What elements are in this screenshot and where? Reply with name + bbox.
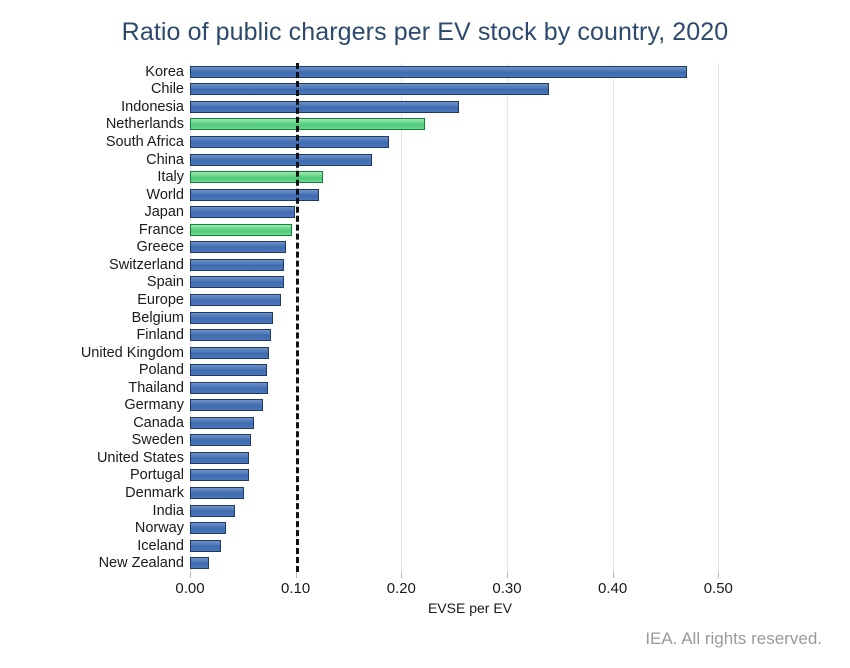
copyright-note: IEA. All rights reserved.	[645, 629, 822, 649]
bar	[190, 83, 549, 95]
bar	[190, 522, 226, 534]
bar-row	[190, 312, 750, 324]
y-axis-label-poland: Poland	[4, 363, 184, 377]
bar-row	[190, 417, 750, 429]
bar	[190, 312, 273, 324]
bar-row	[190, 83, 750, 95]
bar-row	[190, 241, 750, 253]
y-axis-label-thailand: Thailand	[4, 381, 184, 395]
x-axis-label: EVSE per EV	[190, 600, 750, 616]
bar-row	[190, 382, 750, 394]
bar	[190, 241, 286, 253]
bar-row	[190, 154, 750, 166]
chart-title: Ratio of public chargers per EV stock by…	[0, 18, 850, 47]
bar-row	[190, 118, 750, 130]
bar-series	[190, 63, 750, 572]
bar	[190, 417, 254, 429]
bar-row	[190, 557, 750, 569]
bar	[190, 399, 263, 411]
bar	[190, 118, 425, 130]
bar-row	[190, 101, 750, 113]
bar	[190, 540, 221, 552]
bar-row	[190, 189, 750, 201]
reference-line	[296, 63, 299, 572]
x-tick-mark	[401, 572, 402, 578]
y-axis-label-world: World	[4, 188, 184, 202]
y-axis-label-greece: Greece	[4, 240, 184, 254]
x-tick-label: 0.30	[467, 580, 547, 597]
bar-row	[190, 66, 750, 78]
y-axis-label-portugal: Portugal	[4, 468, 184, 482]
bar	[190, 557, 209, 569]
y-axis-label-canada: Canada	[4, 416, 184, 430]
bar	[190, 259, 284, 271]
bar	[190, 382, 268, 394]
y-axis-category-labels: KoreaChileIndonesiaNetherlandsSouth Afri…	[0, 63, 184, 572]
x-tick-label: 0.10	[256, 580, 336, 597]
y-axis-label-india: India	[4, 504, 184, 518]
bar	[190, 505, 235, 517]
y-axis-label-netherlands: Netherlands	[4, 117, 184, 131]
bar-row	[190, 259, 750, 271]
y-axis-label-south-africa: South Africa	[4, 135, 184, 149]
bar-row	[190, 505, 750, 517]
bar	[190, 154, 372, 166]
y-axis-label-sweden: Sweden	[4, 433, 184, 447]
y-axis-label-chile: Chile	[4, 82, 184, 96]
x-tick-mark	[718, 572, 719, 578]
bar	[190, 347, 269, 359]
x-tick-mark	[507, 572, 508, 578]
y-axis-label-spain: Spain	[4, 275, 184, 289]
y-axis-label-germany: Germany	[4, 398, 184, 412]
bar	[190, 487, 244, 499]
y-axis-label-france: France	[4, 223, 184, 237]
bar	[190, 206, 295, 218]
y-axis-label-belgium: Belgium	[4, 311, 184, 325]
y-axis-label-italy: Italy	[4, 170, 184, 184]
y-axis-label-new-zealand: New Zealand	[4, 556, 184, 570]
x-tick-label: 0.00	[150, 580, 230, 597]
x-tick-mark	[296, 572, 297, 578]
bar-row	[190, 276, 750, 288]
y-axis-label-united-kingdom: United Kingdom	[4, 346, 184, 360]
y-axis-label-korea: Korea	[4, 65, 184, 79]
y-axis-label-finland: Finland	[4, 328, 184, 342]
y-axis-label-united-states: United States	[4, 451, 184, 465]
bar	[190, 329, 271, 341]
bar-row	[190, 540, 750, 552]
bar	[190, 171, 323, 183]
bar	[190, 452, 249, 464]
y-axis-label-iceland: Iceland	[4, 539, 184, 553]
bar-row	[190, 469, 750, 481]
bar-row	[190, 329, 750, 341]
bar-row	[190, 522, 750, 534]
bar-row	[190, 171, 750, 183]
bar	[190, 136, 389, 148]
bar	[190, 469, 249, 481]
x-tick-label: 0.40	[573, 580, 653, 597]
x-tick-label: 0.50	[678, 580, 758, 597]
bar	[190, 276, 284, 288]
bar	[190, 364, 267, 376]
bar	[190, 224, 292, 236]
bar-row	[190, 224, 750, 236]
y-axis-label-japan: Japan	[4, 205, 184, 219]
bar	[190, 66, 687, 78]
bar-row	[190, 206, 750, 218]
bar-row	[190, 294, 750, 306]
y-axis-label-switzerland: Switzerland	[4, 258, 184, 272]
bar	[190, 101, 459, 113]
bar-row	[190, 136, 750, 148]
y-axis-label-china: China	[4, 153, 184, 167]
bar-row	[190, 452, 750, 464]
y-axis-label-norway: Norway	[4, 521, 184, 535]
y-axis-label-indonesia: Indonesia	[4, 100, 184, 114]
x-tick-mark	[190, 572, 191, 578]
bar-row	[190, 347, 750, 359]
bar	[190, 189, 319, 201]
bar-row	[190, 364, 750, 376]
chart-container: Ratio of public chargers per EV stock by…	[0, 0, 850, 668]
x-axis-ticks: 0.000.100.200.300.400.50	[190, 580, 750, 602]
x-tick-label: 0.20	[361, 580, 441, 597]
y-axis-label-europe: Europe	[4, 293, 184, 307]
bar-row	[190, 399, 750, 411]
bar	[190, 294, 281, 306]
y-axis-label-denmark: Denmark	[4, 486, 184, 500]
plot-area	[190, 63, 750, 572]
x-tick-mark	[613, 572, 614, 578]
bar-row	[190, 487, 750, 499]
bar-row	[190, 434, 750, 446]
bar	[190, 434, 251, 446]
